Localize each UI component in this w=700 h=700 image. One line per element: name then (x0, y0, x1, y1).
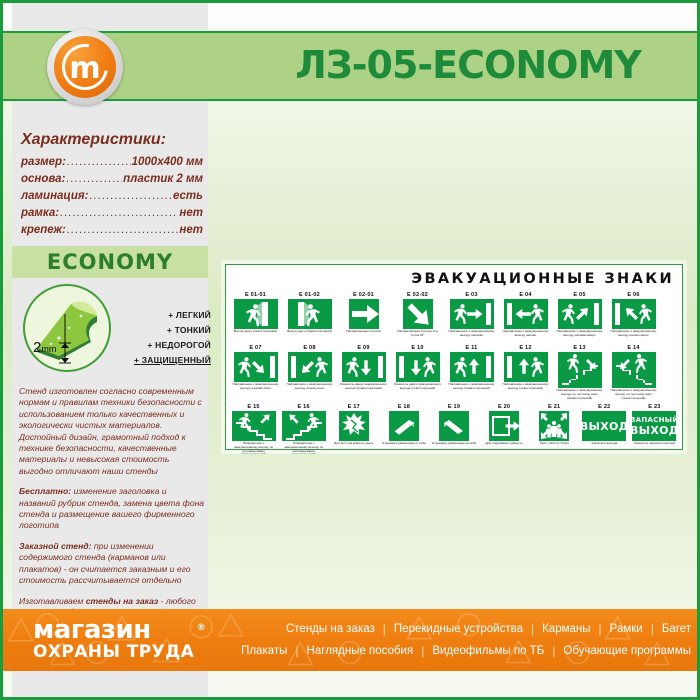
link-separator: | (295, 644, 298, 658)
footer-link-2[interactable]: Наглядные пособия (307, 645, 414, 657)
poster-page: m ЛЗ-05-ECONOMY Характеристики: размер:.… (0, 0, 700, 700)
sign-caption: Направляющая стрелка (339, 330, 388, 342)
description-paragraph-1: Стенд изготовлен согласно современным но… (19, 386, 205, 477)
panel-title: ЭВАКУАЦИОННЫЕ ЗНАКИ (411, 271, 674, 287)
footer-links-row-1: Стенды на заказ|Перекидные устройства|Ка… (198, 618, 691, 640)
link-separator: | (552, 644, 555, 658)
footer-link-3[interactable]: Видеофильмы по ТБ (432, 645, 544, 657)
specifications-list: размер:.................................… (21, 156, 203, 236)
sign-code: E 03 (447, 291, 496, 299)
exit-left-icon (234, 299, 278, 329)
sign-cell-e01-01: E 01-01Выход здесь (левосторонний) (231, 291, 280, 342)
sign-caption: Направление к эвакуационному выходу по л… (281, 442, 326, 454)
sign-code: E 14 (609, 344, 658, 352)
sign-cell-e20: E 20Для открывания сдвинуть (482, 403, 527, 454)
sign-cell-e02-02: E 02-02Направляющая стрелка под углом 45… (393, 291, 442, 342)
sign-code: E 16 (281, 403, 326, 411)
sign-caption: Пункт (место) сбора (532, 442, 577, 454)
sign-code: E 22 (582, 403, 627, 411)
logo-ring-icon (53, 35, 117, 99)
made-to-order-label: стенды на заказ (86, 596, 158, 606)
spec-label: основа: (21, 173, 65, 185)
specifications-title: Характеристики: (21, 131, 203, 149)
sign-cell-e09: E 09Указатель двери эвакуационного выход… (339, 344, 388, 401)
sign-caption: Открывать движением на себя (431, 442, 476, 454)
description-paragraph-3: Заказной стенд: при изменении содержимог… (19, 541, 205, 587)
push-door-icon (389, 411, 419, 441)
sign-code: E 09 (339, 344, 388, 352)
spec-dots: ..................................... (89, 190, 172, 202)
break-glass-icon (339, 411, 369, 441)
spec-label: ламинация: (21, 190, 88, 202)
spec-value: пластик 2 мм (123, 173, 203, 185)
specifications-block: Характеристики: размер:.................… (21, 131, 203, 241)
sign-caption: Для доступа вскрыть здесь (331, 442, 376, 454)
sign-code: E 12 (501, 344, 550, 352)
sign-cell-e12: E 12Направление к эвакуационному выходу … (501, 344, 550, 401)
sign-caption: Направление к эвакуационному выходу (лев… (501, 383, 550, 395)
free-label: Бесплатно: (19, 486, 71, 496)
signs-row: E 01-01Выход здесь (левосторонний)E 01-0… (231, 291, 677, 342)
sign-cell-e15: E 15Направление к эвакуационному выходу … (231, 403, 276, 454)
stairs-down-right-icon (558, 352, 602, 388)
footer-link-3[interactable]: Карманы (542, 623, 590, 635)
footer-link-4[interactable]: Обучающие программы (563, 645, 691, 657)
spec-label: размер: (21, 156, 66, 168)
sign-code: E 02-01 (339, 291, 388, 299)
footer-links: Стенды на заказ|Перекидные устройства|Ка… (198, 618, 691, 662)
evacuation-signs-panel: ЭВАКУАЦИОННЫЕ ЗНАКИ E 01-01Выход здесь (… (225, 264, 683, 450)
feature-bullet: + ТОНКИЙ (134, 325, 211, 335)
sign-code: E 21 (532, 403, 577, 411)
sign-cell-e07: E 07Направление к эвакуационному выходу … (231, 344, 280, 401)
text-emergency-exit-icon: ЗАПАСНЫЙВЫХОД (632, 411, 676, 441)
text-exit-icon: ВЫХОД (582, 411, 626, 441)
sign-code: E 02-02 (393, 291, 442, 299)
footer-bar: магазин® ОХРАНЫ ТРУДА Стенды на заказ|Пе… (3, 609, 697, 671)
link-separator: | (383, 622, 386, 636)
sign-cell-e10: E 10Указатель двери эвакуационного выход… (393, 344, 442, 401)
sign-cell-e05: E 05Направление к эвакуационному выходу … (555, 291, 604, 342)
door-up-right-icon (450, 352, 494, 382)
sign-caption: Направляющая стрелка под углом 45° (393, 330, 442, 342)
sign-cell-e14: E 14Направление к эвакуационному выходу … (609, 344, 658, 401)
sign-cell-e13: E 13Направление к эвакуационному выходу … (555, 344, 604, 401)
sign-cell-e17: E 17Для доступа вскрыть здесь (331, 403, 376, 454)
economy-badge-label: ECONOMY (47, 250, 173, 274)
arrow-right-icon (349, 299, 379, 329)
dir-down-right-door-icon (234, 352, 278, 382)
sign-caption: Направление к эвакуационному выходу нале… (501, 330, 550, 342)
dir-down-left-door-icon (288, 352, 332, 382)
page-title: ЛЗ-05-ECONOMY (253, 43, 683, 87)
stairs-up-right-icon (232, 411, 276, 441)
signs-grid: E 01-01Выход здесь (левосторонний)E 01-0… (231, 291, 677, 456)
sign-caption: Указатель выхода (582, 442, 627, 454)
spec-row: рамка:..................................… (21, 207, 203, 219)
dir-left-door-icon (504, 299, 548, 329)
sign-cell-e06: E 06Направление к эвакуационному выходу … (609, 291, 658, 342)
signs-row: E 07Направление к эвакуационному выходу … (231, 344, 677, 401)
sign-caption: Выход здесь (правосторонний) (285, 330, 334, 342)
sign-code: E 23 (632, 403, 677, 411)
sign-caption: Направление к эвакуационному выходу по л… (609, 389, 658, 401)
spec-row: основа:.................................… (21, 173, 203, 185)
description-block: Стенд изготовлен согласно современным но… (19, 386, 205, 639)
spec-dots: ..................................... (66, 173, 122, 185)
custom-label: Заказной стенд: (19, 541, 91, 551)
spec-label: рамка: (21, 207, 59, 219)
footer-link-2[interactable]: Перекидные устройства (394, 623, 523, 635)
sign-cell-e02-01: E 02-01Направляющая стрелка (339, 291, 388, 342)
arrow-diag-down-right-icon (403, 299, 433, 329)
sign-cell-e19: E 19Открывать движением на себя (431, 403, 476, 454)
sign-caption: Направление к эвакуационному выходу напр… (447, 330, 496, 342)
door-down-left-icon (396, 352, 440, 382)
spec-dots: ..................................... (67, 156, 131, 168)
sign-code: E 20 (482, 403, 527, 411)
sign-code: E 04 (501, 291, 550, 299)
sign-caption: Направление к эвакуационному выходу (пра… (447, 383, 496, 395)
sign-caption: Указатель двери эвакуационного выхода (п… (339, 383, 388, 395)
material-sheet-icon (25, 286, 111, 372)
spec-dots: ..................................... (67, 224, 179, 236)
spec-value: 1000х400 мм (132, 156, 203, 168)
footer-link-1[interactable]: Стенды на заказ (286, 623, 375, 635)
sign-caption: Выход здесь (левосторонний) (231, 330, 280, 342)
footer-link-1[interactable]: Плакаты (241, 645, 287, 657)
sign-code: E 10 (393, 344, 442, 352)
spec-row: размер:.................................… (21, 156, 203, 168)
sign-cell-e23: E 23ЗАПАСНЫЙВЫХОДУказатель запасного вых… (632, 403, 677, 454)
sign-code: E 05 (555, 291, 604, 299)
link-separator: | (421, 644, 424, 658)
exit-right-icon (288, 299, 332, 329)
sign-code: E 01-02 (285, 291, 334, 299)
brand-line-2: ОХРАНЫ ТРУДА (33, 643, 194, 662)
spec-value: нет (179, 224, 203, 236)
sign-cell-e11: E 11Направление к эвакуационному выходу … (447, 344, 496, 401)
sign-caption: Направление к эвакуационному выходу напр… (555, 330, 604, 342)
description-paragraph-2: Бесплатно: изменение заголовка и названи… (19, 486, 205, 532)
sign-caption: Направление к эвакуационному выходу напр… (231, 383, 280, 395)
spec-row: крепеж:.................................… (21, 224, 203, 236)
sign-cell-e08: E 08Направление к эвакуационному выходу … (285, 344, 334, 401)
footer-link-5[interactable]: Багет (662, 623, 691, 635)
spec-value: нет (179, 207, 203, 219)
door-down-right-icon (342, 352, 386, 382)
sign-cell-e01-02: E 01-02Выход здесь (правосторонний) (285, 291, 334, 342)
sign-code: E 15 (231, 403, 276, 411)
sign-caption: Направление к эвакуационному выходу нале… (285, 383, 334, 395)
brand-line-1: магазин® (33, 617, 194, 643)
sign-code: E 19 (431, 403, 476, 411)
sign-cell-e22: E 22ВЫХОДУказатель выхода (582, 403, 627, 454)
dir-up-right-door-icon (558, 299, 602, 329)
stairs-up-left-icon (282, 411, 326, 441)
spec-row: ламинация:..............................… (21, 190, 203, 202)
sign-code: E 18 (381, 403, 426, 411)
sign-code: E 06 (609, 291, 658, 299)
sign-caption: Указатель двери эвакуационного выхода (л… (393, 383, 442, 395)
sign-caption: Направление к эвакуационному выходу нале… (609, 330, 658, 342)
feature-bullets: + ЛЕГКИЙ+ ТОНКИЙ+ НЕДОРОГОЙ+ ЗАЩИЩЕННЫЙ (134, 310, 211, 370)
material-illustration-block: 2mm + ЛЕГКИЙ+ ТОНКИЙ+ НЕДОРОГОЙ+ ЗАЩИЩЕН… (21, 284, 211, 378)
sign-code: E 13 (555, 344, 604, 352)
thickness-label: 2mm (33, 339, 56, 356)
link-separator: | (599, 622, 602, 636)
sign-code: E 08 (285, 344, 334, 352)
feature-bullet: + ЛЕГКИЙ (134, 310, 211, 320)
stairs-down-left-icon (612, 352, 656, 388)
sign-cell-e21: E 21Пункт (место) сбора (532, 403, 577, 454)
made-to-order-pre: Изготавливаем (19, 596, 86, 606)
door-up-left-icon (504, 352, 548, 382)
footer-link-4[interactable]: Рамки (610, 623, 643, 635)
exit-label: ВЫХОД (582, 411, 626, 441)
sign-cell-e03: E 03Направление к эвакуационному выходу … (447, 291, 496, 342)
footer-links-row-2: Плакаты|Наглядные пособия|Видеофильмы по… (198, 640, 691, 662)
link-separator: | (531, 622, 534, 636)
sign-code: E 01-01 (231, 291, 280, 299)
assembly-point-icon (539, 411, 569, 441)
emergency-exit-label: ЗАПАСНЫЙВЫХОД (632, 411, 676, 441)
economy-badge: ECONOMY (12, 246, 208, 278)
magazin-logo: m (47, 29, 123, 105)
spec-value: есть (173, 190, 203, 202)
sign-caption: Направление к эвакуационному выходу по л… (555, 389, 604, 401)
sign-caption: Направление к эвакуационному выходу по л… (231, 442, 276, 454)
pull-door-icon (439, 411, 469, 441)
sign-caption: Открывать движением от себя (381, 442, 426, 454)
logo-circle-icon: m (54, 36, 116, 98)
signs-row: E 15Направление к эвакуационному выходу … (231, 403, 677, 454)
spec-dots: ..................................... (60, 207, 178, 219)
material-thickness-icon: 2mm (23, 284, 111, 372)
sign-cell-e04: E 04Направление к эвакуационному выходу … (501, 291, 550, 342)
sign-code: E 17 (331, 403, 376, 411)
sign-code: E 07 (231, 344, 280, 352)
brand-logo-text: магазин® ОХРАНЫ ТРУДА (33, 617, 194, 662)
feature-bullet: + ЗАЩИЩЕННЫЙ (134, 355, 211, 365)
feature-bullet: + НЕДОРОГОЙ (134, 340, 211, 350)
sign-cell-e16: E 16Направление к эвакуационному выходу … (281, 403, 326, 454)
slide-door-icon (489, 411, 519, 441)
sign-code: E 11 (447, 344, 496, 352)
spec-label: крепеж: (21, 224, 66, 236)
sign-caption: Указатель запасного выхода (632, 442, 677, 454)
link-separator: | (651, 622, 654, 636)
dir-up-left-door-icon (612, 299, 656, 329)
sign-cell-e18: E 18Открывать движением от себя (381, 403, 426, 454)
dir-right-door-icon (450, 299, 494, 329)
sign-caption: Для открывания сдвинуть (482, 442, 527, 454)
